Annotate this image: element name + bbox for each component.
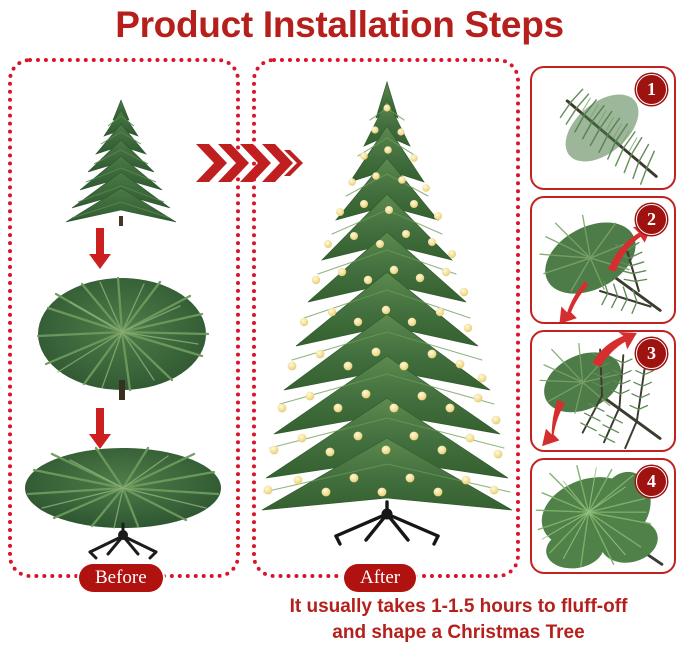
page-title: Product Installation Steps: [0, 2, 679, 48]
before-stage-3-tree-on-stand: [18, 440, 228, 560]
down-arrow-1-icon: [88, 228, 112, 270]
step-box-2: 2: [530, 196, 676, 324]
before-badge: Before: [79, 564, 163, 592]
infographic-page: Product Installation Steps: [0, 0, 679, 655]
step-box-4: 4: [530, 458, 676, 574]
caption-line-2: and shape a Christmas Tree: [238, 620, 679, 646]
before-stage-1-tree: [46, 96, 196, 226]
step-number-3: 3: [636, 338, 667, 369]
before-stage-2-tree: [22, 268, 222, 400]
step-number-1: 1: [636, 74, 667, 105]
caption-text: It usually takes 1-1.5 hours to fluff-of…: [238, 594, 679, 646]
step-box-3: 3: [530, 330, 676, 452]
step-number-4: 4: [636, 466, 667, 497]
after-badge: After: [344, 564, 416, 592]
caption-line-1: It usually takes 1-1.5 hours to fluff-of…: [238, 594, 679, 620]
step-number-2: 2: [636, 204, 667, 235]
step-box-1: 1: [530, 66, 676, 190]
after-main-tree: [258, 78, 516, 548]
